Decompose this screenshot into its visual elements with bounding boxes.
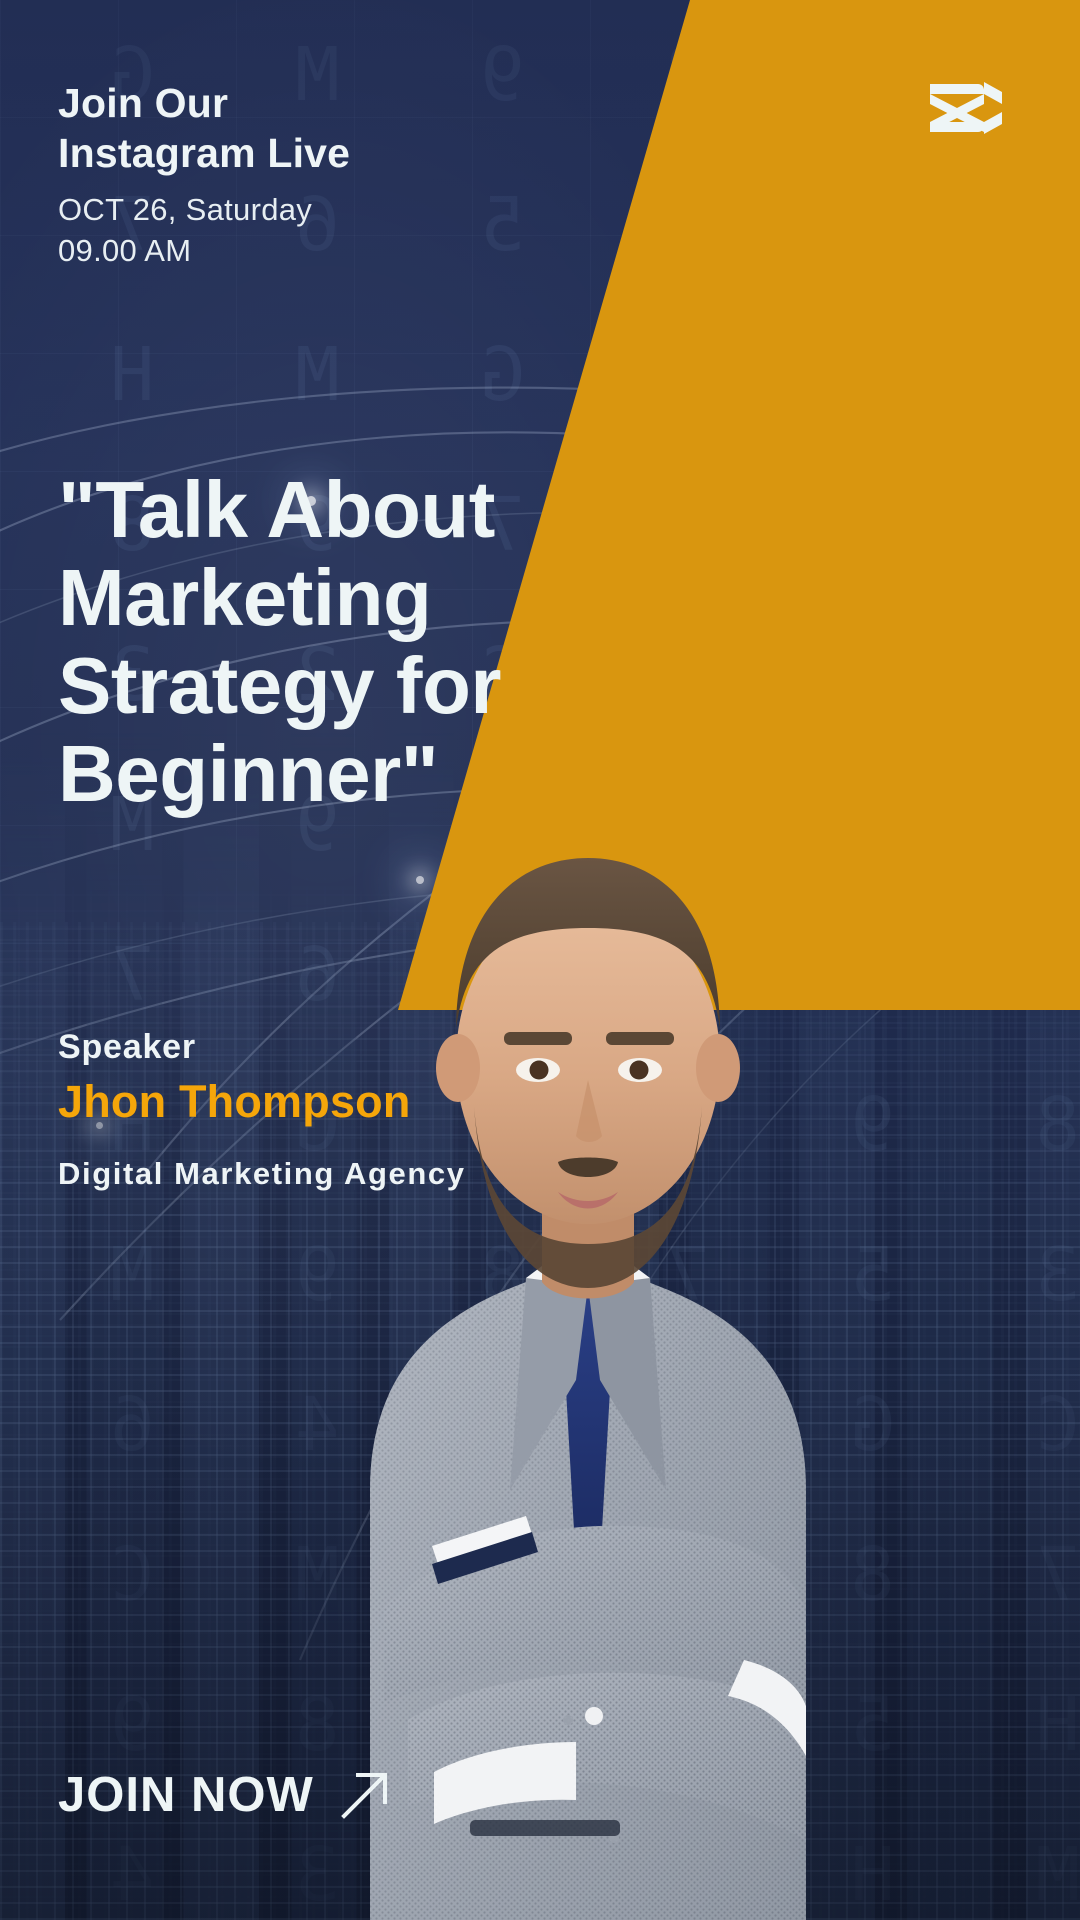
header-block: Join Our Instagram Live OCT 26, Saturday… <box>58 78 350 272</box>
join-now-button[interactable]: JOIN NOW <box>58 1766 394 1824</box>
page-title: "Talk About Marketing Strategy for Begin… <box>58 466 618 818</box>
capcut-logo-icon <box>922 78 1006 148</box>
header-title-line1: Join Our <box>58 78 350 128</box>
event-time: 09.00 AM <box>58 231 350 272</box>
arrow-up-right-icon <box>336 1766 394 1824</box>
instagram-live-promo-poster: 6 7 8 9 M G C H 3 5 6 7 8 9 C G M H 4 5 … <box>0 0 1080 1920</box>
speaker-label: Speaker <box>58 1028 478 1067</box>
header-title-line2: Instagram Live <box>58 128 350 178</box>
speaker-block: Speaker Jhon Thompson Digital Marketing … <box>58 1028 478 1193</box>
event-date: OCT 26, Saturday <box>58 190 350 231</box>
speaker-name: Jhon Thompson <box>58 1077 478 1127</box>
speaker-role: Digital Marketing Agency <box>58 1155 478 1192</box>
join-now-label: JOIN NOW <box>58 1767 314 1823</box>
